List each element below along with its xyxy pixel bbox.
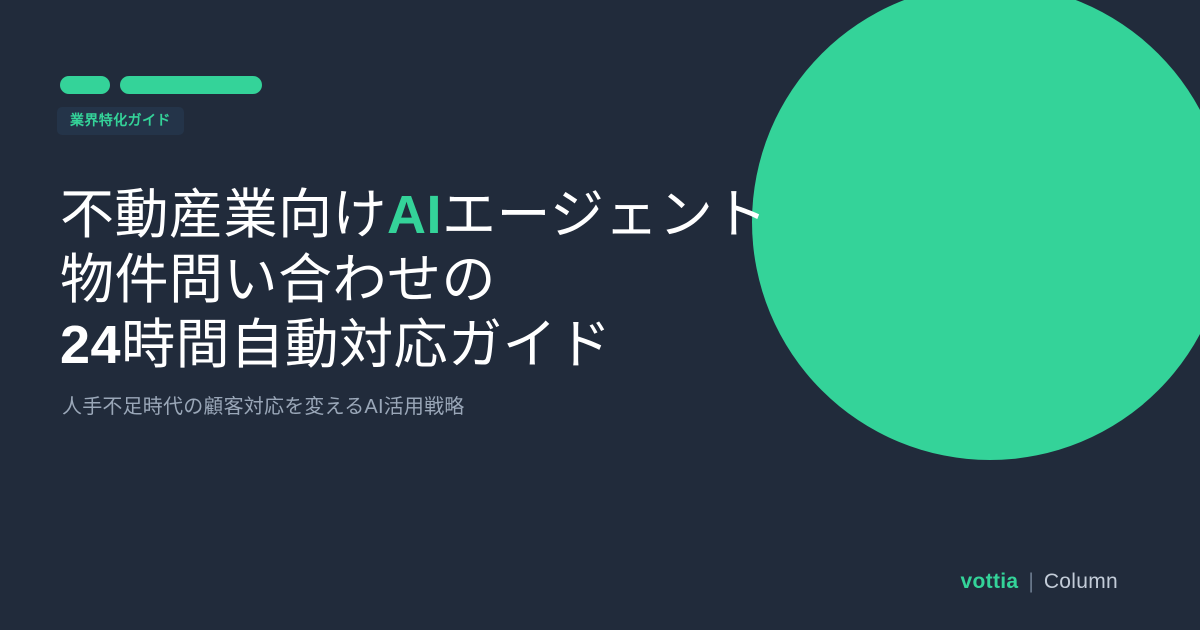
footer-brand: vottia | Column bbox=[961, 571, 1118, 592]
accent-pill-short bbox=[60, 76, 110, 94]
headline-line1-prefix: 不動産業向け bbox=[60, 185, 387, 245]
headline-line-1: 不動産業向けAIエージェント bbox=[60, 183, 760, 248]
page-title: 不動産業向けAIエージェント 物件問い合わせの 24時間自動対応ガイド bbox=[60, 183, 760, 378]
headline-line3-rest: 時間自動対応ガイド bbox=[121, 315, 612, 375]
headline-number-24: 24 bbox=[60, 315, 121, 375]
brand-separator: | bbox=[1028, 571, 1033, 592]
category-badge: 業界特化ガイド bbox=[57, 107, 184, 135]
brand-section-label: Column bbox=[1044, 571, 1118, 592]
accent-pill-row bbox=[60, 76, 262, 94]
cover-canvas: 業界特化ガイド 不動産業向けAIエージェント 物件問い合わせの 24時間自動対応… bbox=[0, 0, 1200, 630]
accent-pill-long bbox=[120, 76, 262, 94]
headline-line1-suffix: エージェント bbox=[442, 185, 768, 245]
page-subtitle: 人手不足時代の顧客対応を変えるAI活用戦略 bbox=[62, 392, 465, 422]
brand-name: vottia bbox=[961, 571, 1019, 592]
headline-line-3: 24時間自動対応ガイド bbox=[60, 313, 760, 378]
headline-line-2: 物件問い合わせの bbox=[60, 248, 760, 313]
headline-accent-ai: AI bbox=[387, 185, 442, 245]
green-circle-decoration bbox=[752, 0, 1200, 460]
